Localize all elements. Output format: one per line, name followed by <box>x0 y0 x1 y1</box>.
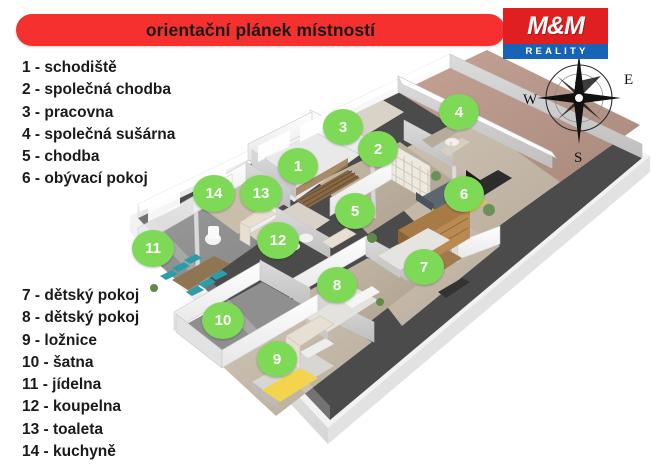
compass-label-south: S <box>574 150 582 166</box>
room-marker-10[interactable]: 10 <box>202 302 244 339</box>
screenshot-root: orientační plánek místností 1 - schodišt… <box>0 0 662 468</box>
room-marker-9[interactable]: 9 <box>257 341 297 377</box>
legend-item: 7 - dětský pokoj <box>22 285 139 307</box>
room-marker-7[interactable]: 7 <box>404 249 444 285</box>
legend-item: 6 - obývací pokoj <box>22 168 175 190</box>
logo-mm-text: M&M <box>527 14 584 39</box>
logo-main-block: M&M <box>503 8 608 44</box>
room-marker-1[interactable]: 1 <box>278 148 318 184</box>
legend-item: 13 - toaleta <box>22 419 139 441</box>
room-marker-13[interactable]: 13 <box>240 175 282 212</box>
room-marker-11[interactable]: 11 <box>132 230 174 267</box>
room-marker-14[interactable]: 14 <box>193 175 235 212</box>
legend-item: 5 - chodba <box>22 146 175 168</box>
legend-item: 12 - koupelna <box>22 396 139 418</box>
legend-bottom: 7 - dětský pokoj 8 - dětský pokoj 9 - lo… <box>22 285 139 463</box>
legend-item: 14 - kuchyně <box>22 441 139 463</box>
room-marker-3[interactable]: 3 <box>323 109 363 145</box>
room-marker-2[interactable]: 2 <box>358 131 398 167</box>
room-marker-6[interactable]: 6 <box>444 176 484 212</box>
room-marker-8[interactable]: 8 <box>317 267 357 303</box>
legend-item: 10 - šatna <box>22 352 139 374</box>
legend-item: 8 - dětský pokoj <box>22 307 139 329</box>
legend-item: 3 - pracovna <box>22 102 175 124</box>
legend-item: 9 - ložnice <box>22 330 139 352</box>
legend-item: 2 - společná chodba <box>22 79 175 101</box>
mm-reality-logo: M&M REALITY <box>503 8 608 59</box>
logo-sub-block: REALITY <box>503 44 608 59</box>
room-marker-12[interactable]: 12 <box>257 222 299 259</box>
legend-item: 1 - schodiště <box>22 57 175 79</box>
page-title-bar: orientační plánek místností <box>16 14 505 46</box>
room-marker-4[interactable]: 4 <box>439 94 479 130</box>
compass-label-west: W <box>523 92 538 108</box>
legend-item: 4 - společná sušárna <box>22 124 175 146</box>
compass-rose: E W S <box>521 48 641 166</box>
page-title: orientační plánek místností <box>146 20 375 41</box>
legend-top: 1 - schodiště 2 - společná chodba 3 - pr… <box>22 57 175 191</box>
room-marker-5[interactable]: 5 <box>335 193 375 229</box>
compass-label-east: E <box>624 72 633 88</box>
legend-item: 11 - jídelna <box>22 374 139 396</box>
logo-reality-text: REALITY <box>522 47 588 57</box>
